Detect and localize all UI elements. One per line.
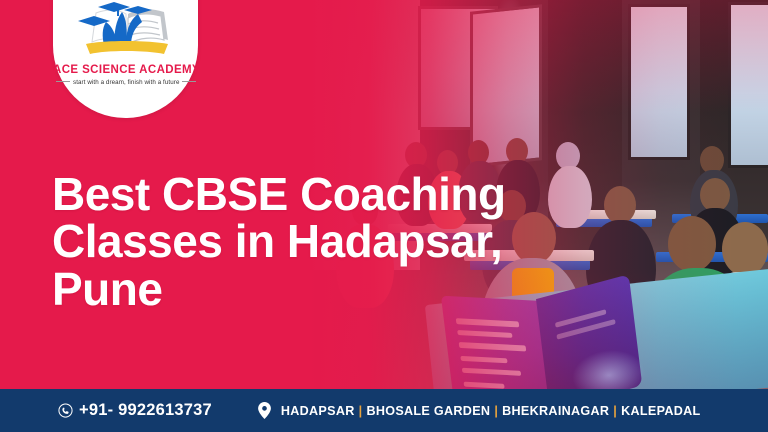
contact-bar: +91- 9922613737 HADAPSAR|BHOSALE GARDEN|… [0, 389, 768, 432]
location-item: BHOSALE GARDEN [366, 404, 490, 418]
logo-tagline: start with a dream, finish with a future [53, 79, 198, 86]
map-pin-icon [258, 402, 271, 419]
academy-logo-mark [70, 0, 182, 58]
phone-circle-icon [58, 403, 73, 418]
phone-number: +91- 9922613737 [79, 401, 212, 420]
location-item: BHEKRAINAGAR [502, 404, 609, 418]
location-names: HADAPSAR|BHOSALE GARDEN|BHEKRAINAGAR|KAL… [281, 404, 701, 418]
location-separator: | [359, 404, 363, 418]
page-title: Best CBSE Coaching Classes in Hadapsar, … [52, 171, 552, 313]
location-separator: | [494, 404, 498, 418]
location-item: HADAPSAR [281, 404, 355, 418]
logo-name: ACE SCIENCE ACADEMY [53, 64, 198, 76]
locations-list: HADAPSAR|BHOSALE GARDEN|BHEKRAINAGAR|KAL… [258, 402, 701, 419]
phone-contact[interactable]: +91- 9922613737 [58, 401, 212, 420]
location-separator: | [613, 404, 617, 418]
location-item: KALEPADAL [621, 404, 700, 418]
promo-banner: ACE SCIENCE ACADEMY start with a dream, … [0, 0, 768, 432]
logo-tagline-text: start with a dream, finish with a future [73, 79, 179, 86]
